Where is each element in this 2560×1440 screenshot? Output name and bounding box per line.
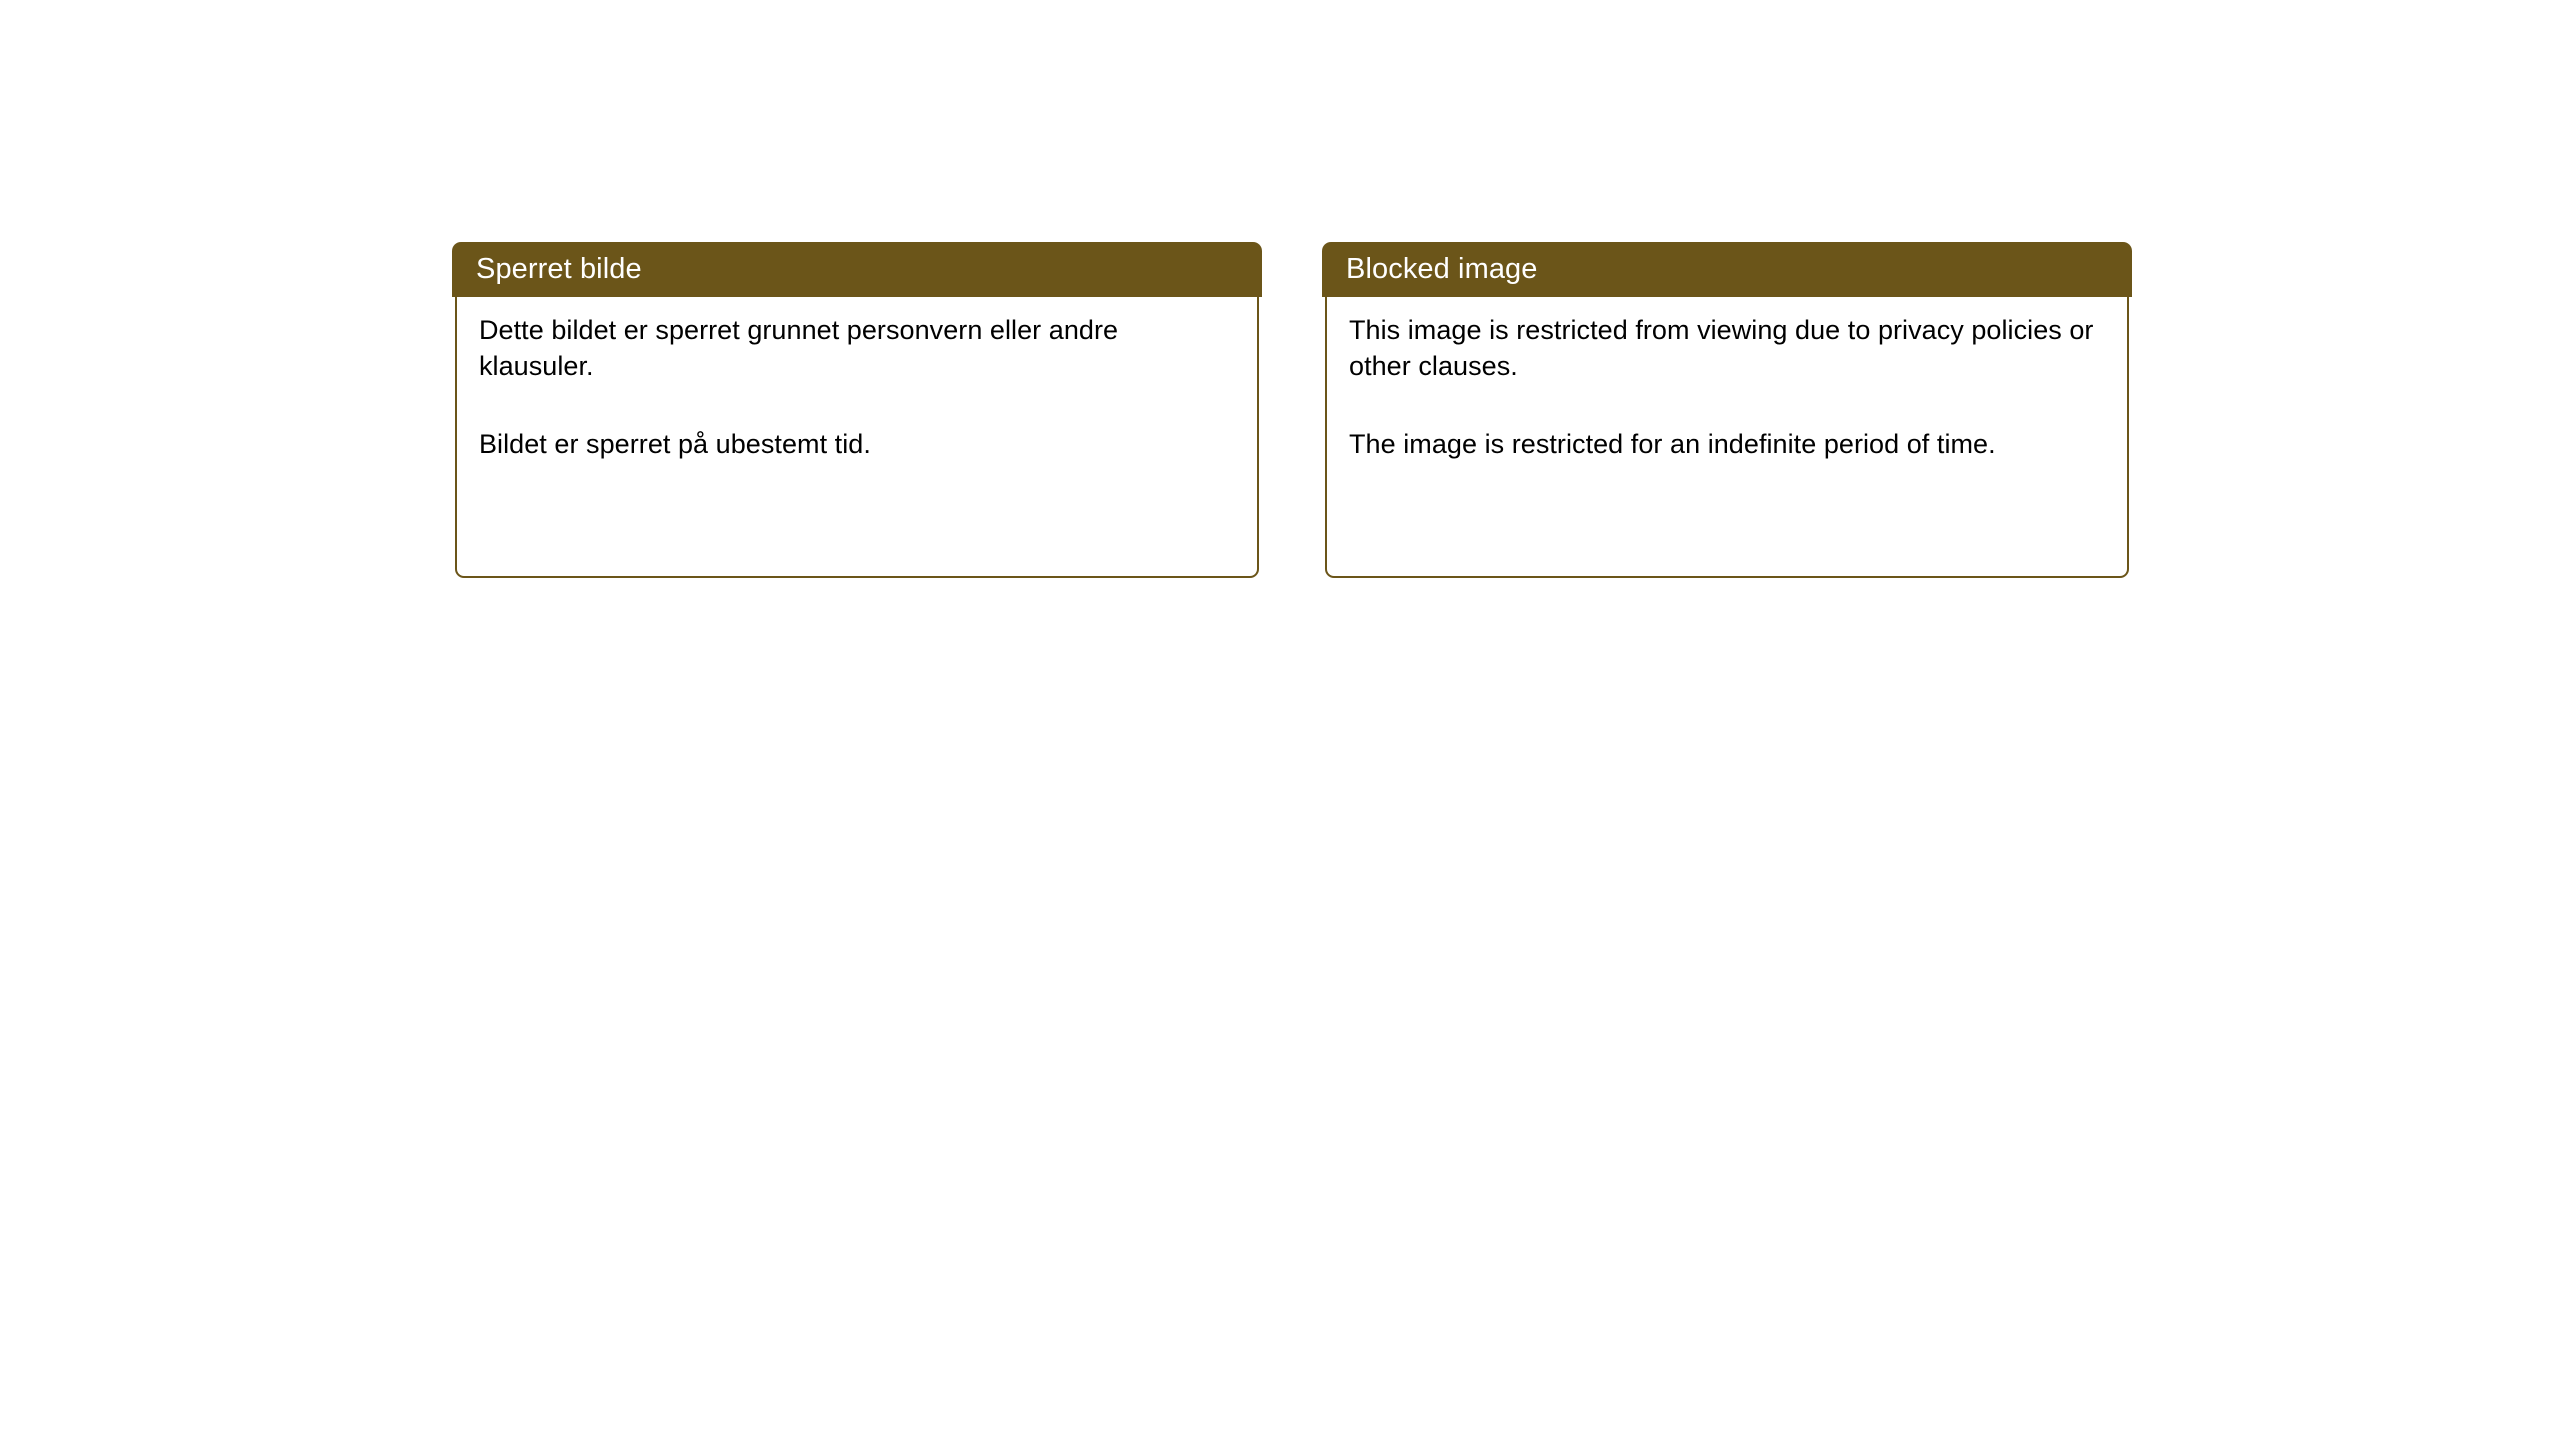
notice-title-no: Sperret bilde	[452, 255, 642, 284]
notice-header-en: Blocked image	[1322, 242, 2132, 297]
notice-paragraph-secondary-en: The image is restricted for an indefinit…	[1349, 427, 2105, 463]
notice-paragraph-primary-no: Dette bildet er sperret grunnet personve…	[479, 313, 1235, 385]
notice-paragraph-secondary-no: Bildet er sperret på ubestemt tid.	[479, 427, 1235, 463]
blocked-image-notice-en: Blocked image This image is restricted f…	[1322, 242, 2132, 578]
notice-header-no: Sperret bilde	[452, 242, 1262, 297]
page-canvas: Sperret bilde Dette bildet er sperret gr…	[0, 0, 2560, 1440]
notice-paragraph-primary-en: This image is restricted from viewing du…	[1349, 313, 2105, 385]
notice-title-en: Blocked image	[1322, 255, 1538, 284]
blocked-image-notice-no: Sperret bilde Dette bildet er sperret gr…	[452, 242, 1262, 578]
notice-body-en: This image is restricted from viewing du…	[1325, 285, 2129, 578]
notice-body-no: Dette bildet er sperret grunnet personve…	[455, 285, 1259, 578]
